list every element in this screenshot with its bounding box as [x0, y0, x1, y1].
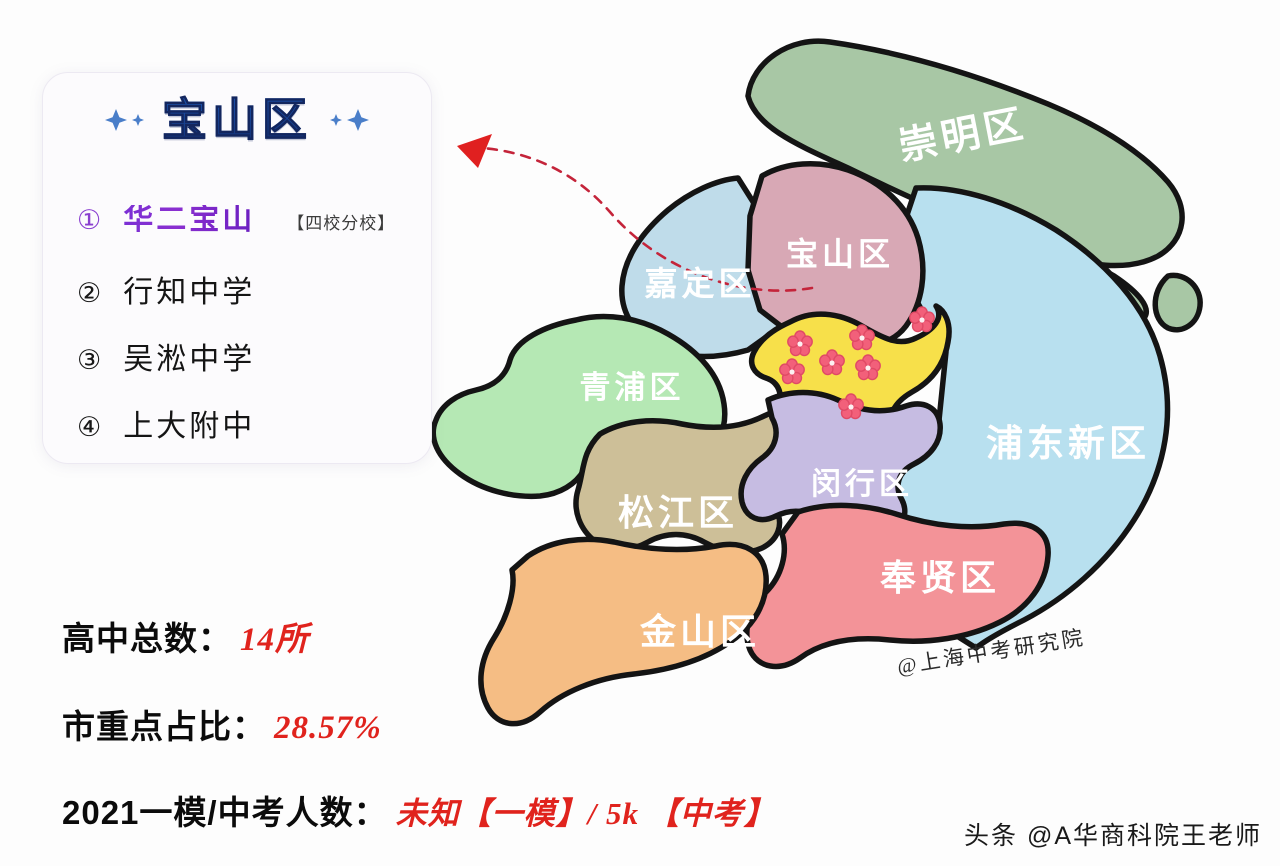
- school-name-1: 华二宝山: [123, 205, 255, 235]
- school-name-3: 吴淞中学: [123, 345, 255, 375]
- school-tag-1: 【四校分校】: [287, 209, 395, 234]
- stat-value-1: 14所: [240, 612, 309, 660]
- region-chongming-islet-2[interactable]: [1155, 275, 1200, 329]
- school-index-1: ①: [77, 207, 101, 234]
- stat-municipal-key-ratio: 市重点占比： 28.57%: [62, 700, 382, 748]
- corner-watermark: 头条 @A华商科院王老师: [964, 816, 1262, 852]
- stat-value-3: 未知【一模】/ 5k 【中考】: [396, 788, 776, 833]
- stat-label-1: 高中总数：: [62, 612, 232, 660]
- map-label-songjiang: 松江区: [618, 492, 738, 533]
- baoshan-info-card: 宝山区 ① 华二宝山 【四校分校】 ② 行知中学 ③ 吴淞中学 ④ 上大附中: [42, 72, 432, 464]
- sparkle-icon-left: [102, 107, 148, 133]
- school-index-2: ②: [77, 280, 101, 307]
- school-index-4: ④: [77, 414, 101, 441]
- school-list-item-4[interactable]: ④ 上大附中: [77, 412, 255, 442]
- card-title: 宝山区: [162, 97, 312, 142]
- school-list-item-3[interactable]: ③ 吴淞中学: [77, 345, 255, 375]
- poster-canvas: 崇明区 嘉定区 宝山区 浦东新区 青浦区 松江区 闵行区 奉贤区 金山区 @上海…: [0, 0, 1280, 866]
- map-label-minhang: 闵行区: [811, 468, 913, 501]
- school-name-2: 行知中学: [123, 278, 255, 308]
- map-label-pudong: 浦东新区: [986, 423, 1150, 464]
- school-list-item-2[interactable]: ② 行知中学: [77, 278, 255, 308]
- school-index-3: ③: [77, 347, 101, 374]
- map-label-fengxian: 奉贤区: [880, 557, 1000, 598]
- sparkle-icon-right: [326, 107, 372, 133]
- card-title-row: 宝山区: [43, 97, 431, 142]
- stat-label-2: 市重点占比：: [62, 700, 266, 748]
- map-label-jiading: 嘉定区: [645, 265, 756, 302]
- map-label-qingpu: 青浦区: [580, 370, 685, 405]
- school-name-4: 上大附中: [123, 412, 255, 442]
- map-label-jinshan: 金山区: [639, 611, 760, 652]
- stat-label-3: 2021一模/中考人数：: [62, 786, 388, 834]
- map-label-baoshan: 宝山区: [786, 236, 894, 272]
- stat-exam-population: 2021一模/中考人数： 未知【一模】/ 5k 【中考】: [62, 786, 776, 834]
- stat-total-high-schools: 高中总数： 14所: [62, 612, 309, 660]
- school-list-item-1[interactable]: ① 华二宝山 【四校分校】: [77, 205, 395, 235]
- stat-value-2: 28.57%: [274, 710, 382, 747]
